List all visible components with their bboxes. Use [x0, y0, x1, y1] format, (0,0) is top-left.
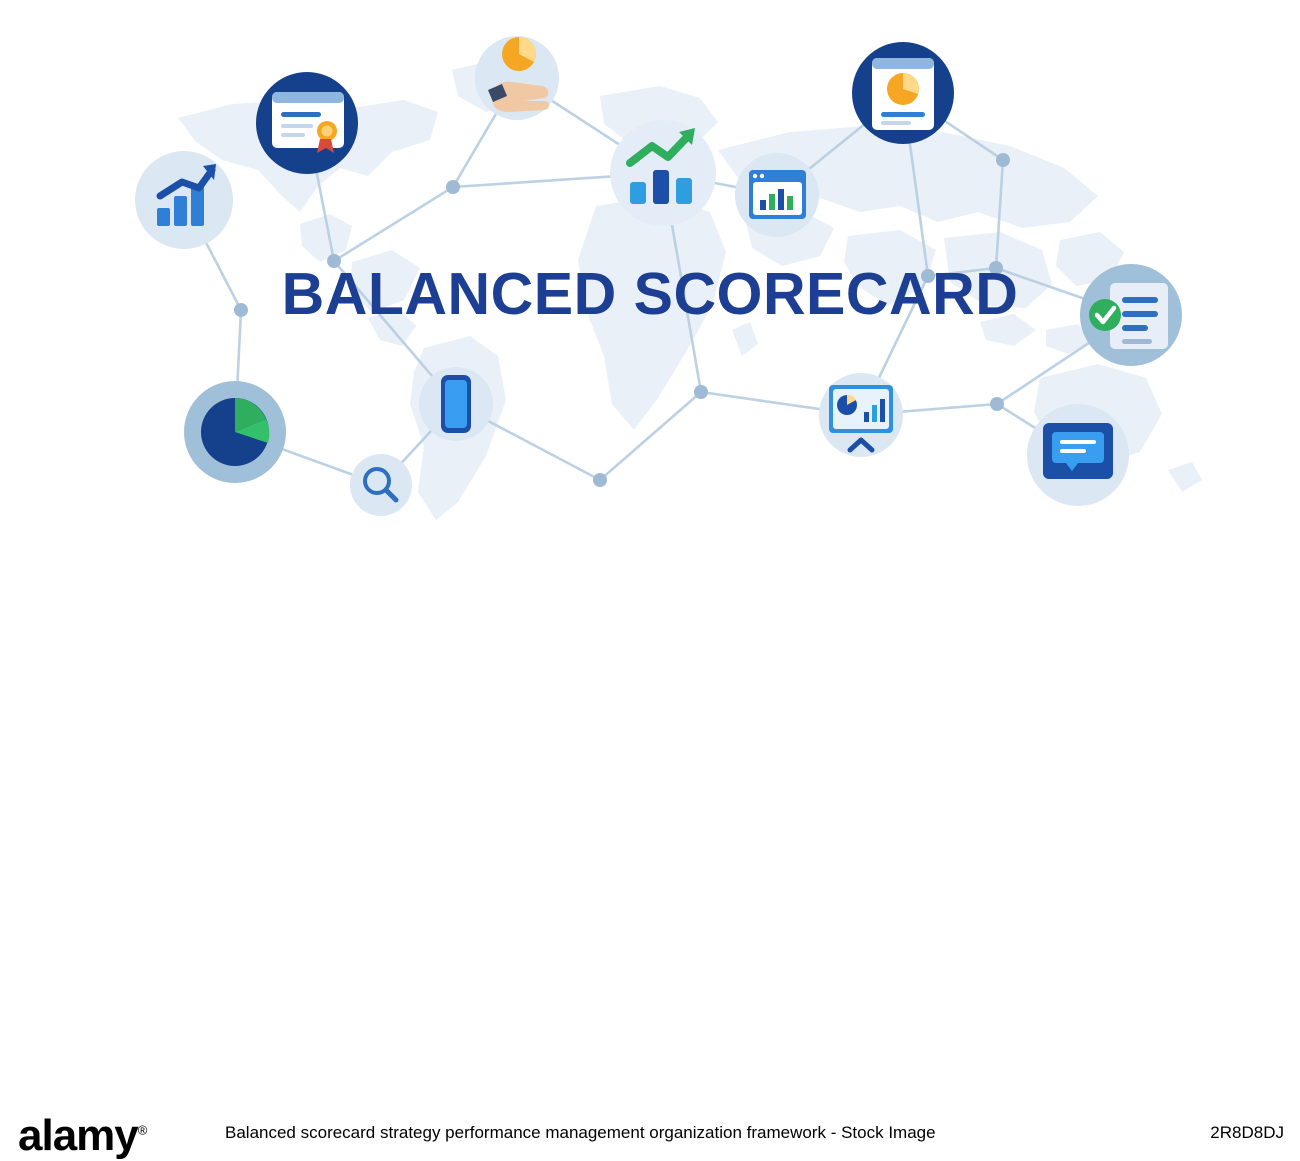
dashboard-window-icon — [735, 153, 819, 237]
alamy-brand-text: alamy — [18, 1111, 138, 1160]
trademark-symbol: ® — [138, 1122, 147, 1137]
checklist-approved-icon — [1080, 264, 1182, 366]
stock-caption: Balanced scorecard strategy performance … — [225, 1123, 936, 1143]
network-illustration: BALANCED SCORECARD — [0, 0, 1300, 540]
presentation-board-icon — [819, 373, 903, 457]
mobile-device-icon — [419, 367, 493, 441]
report-document-pie-icon — [852, 42, 954, 144]
pie-chart-segment-icon — [184, 381, 286, 483]
illustration-stage: BALANCED SCORECARD alamy® Balanced score… — [0, 0, 1300, 647]
rising-graph-bars-icon — [610, 120, 716, 226]
stock-image-id: 2R8D8DJ — [1210, 1123, 1284, 1143]
search-magnifier-icon — [350, 454, 412, 516]
monitor-message-icon — [1027, 404, 1129, 506]
alamy-logo: alamy® — [18, 1111, 146, 1161]
hand-pie-chart-icon — [475, 36, 559, 120]
certificate-card-icon — [256, 72, 358, 174]
growth-bar-chart-arrow-icon — [135, 151, 233, 249]
stock-photo-footer: alamy® Balanced scorecard strategy perfo… — [0, 540, 1300, 648]
